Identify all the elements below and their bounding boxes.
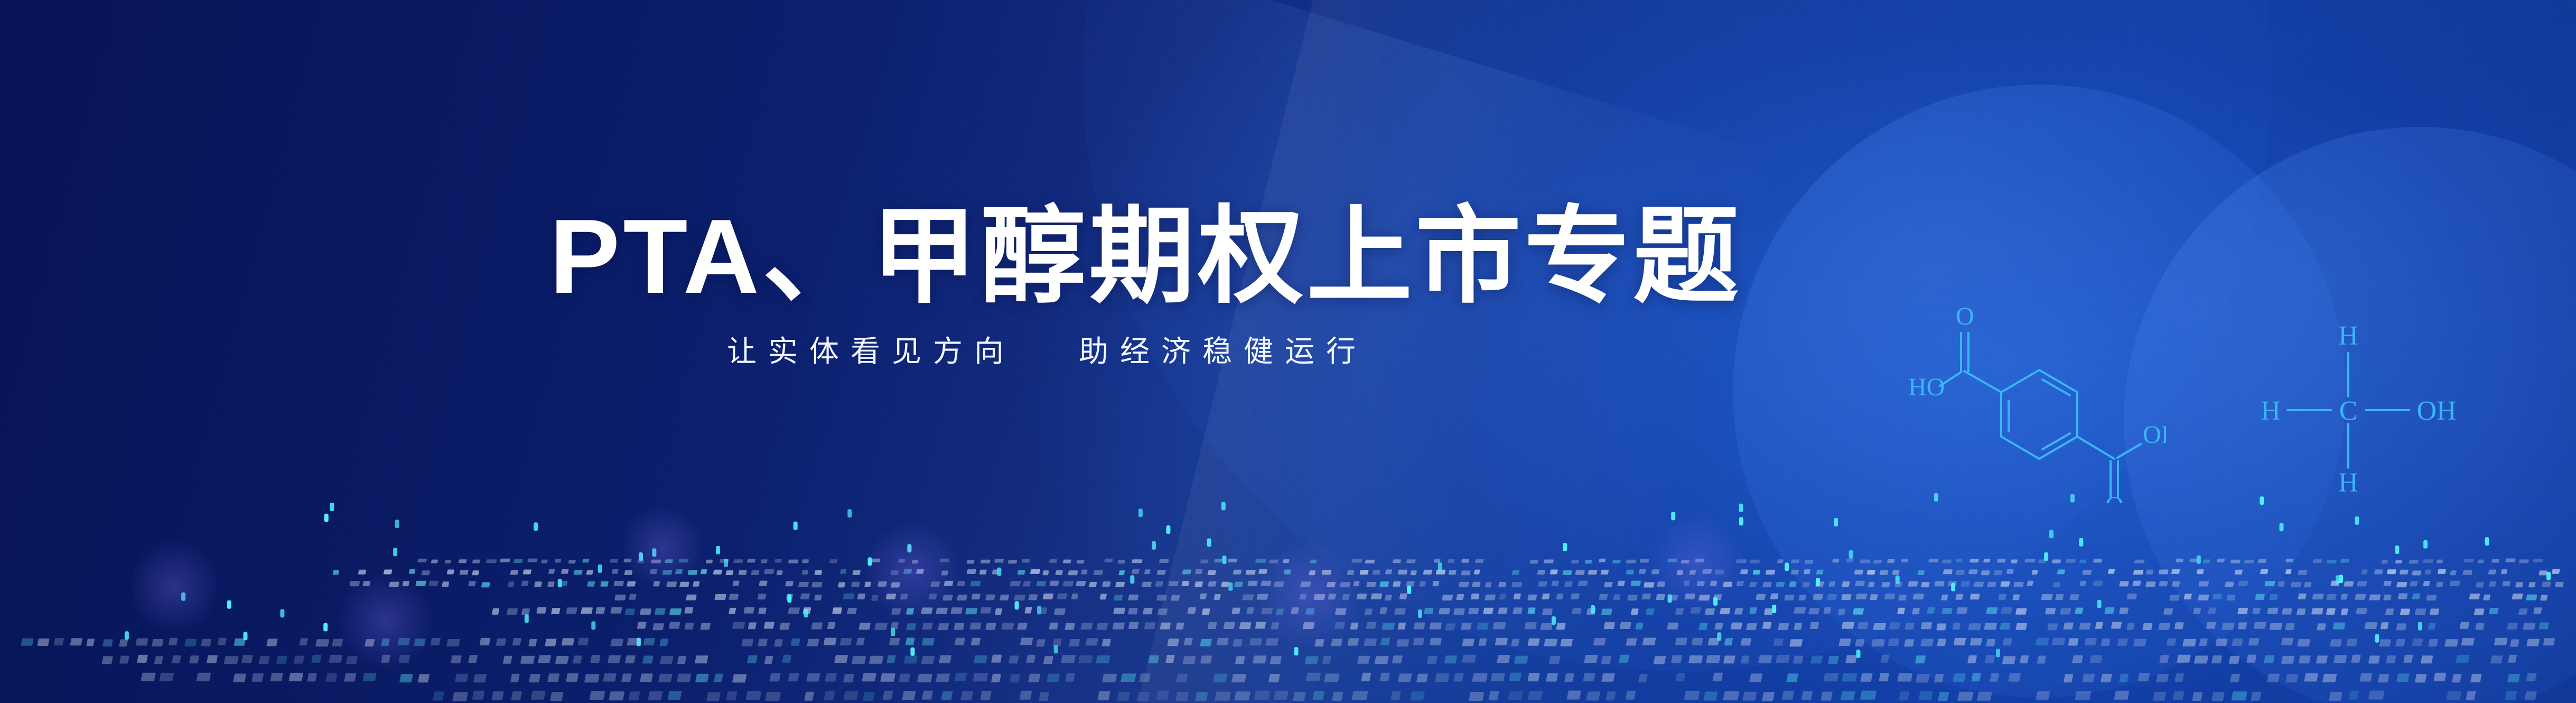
stem-cyan bbox=[891, 628, 895, 703]
stem-cyan bbox=[2197, 556, 2201, 703]
stem-cyan bbox=[1228, 582, 1233, 703]
stem-cyan bbox=[2485, 537, 2489, 703]
stem-cyan bbox=[1772, 605, 1776, 703]
dash-row bbox=[614, 594, 2548, 601]
pta-label-carbonyl-top: O bbox=[1956, 302, 1974, 330]
glow-blob bbox=[866, 518, 956, 624]
stem-cyan bbox=[558, 579, 562, 703]
stem-cyan bbox=[794, 522, 798, 703]
stem-cyan bbox=[652, 548, 656, 703]
dash-row bbox=[349, 581, 2564, 588]
dash-row bbox=[637, 622, 2549, 631]
stem-cyan bbox=[1222, 556, 1227, 703]
stem-cyan bbox=[2339, 575, 2343, 703]
methanol-label-hydrogen-left: H bbox=[2261, 396, 2281, 426]
tech-pattern-svg bbox=[0, 481, 2576, 703]
molecule-methanol: H H C OH H bbox=[2240, 307, 2467, 515]
stem-cyan bbox=[847, 509, 852, 703]
stem-cyan bbox=[1785, 562, 1789, 703]
stem-cyan bbox=[2336, 575, 2340, 703]
stem-cyan bbox=[393, 548, 397, 703]
background-circle-left bbox=[1733, 85, 2346, 698]
stem-cyan bbox=[1407, 586, 1411, 703]
glow-blob bbox=[338, 571, 433, 671]
dash-row bbox=[417, 559, 2543, 564]
stem-cyan bbox=[2423, 540, 2428, 703]
stem-cyan bbox=[639, 552, 643, 703]
methanol-structure-svg: H H C OH H bbox=[2240, 307, 2467, 513]
dash-row bbox=[492, 607, 2542, 615]
stem-cyan bbox=[525, 614, 529, 703]
stem-cyan bbox=[1037, 606, 1041, 703]
methanol-label-hydrogen-bottom: H bbox=[2338, 468, 2358, 498]
background-circle-right bbox=[2124, 127, 2576, 703]
dash-row bbox=[433, 691, 2537, 701]
stem-cyan bbox=[1934, 493, 1938, 703]
glow-blob bbox=[623, 502, 703, 592]
stem-cyan bbox=[598, 565, 602, 703]
stem-cyan bbox=[1739, 517, 1743, 703]
stem-cyan bbox=[2097, 600, 2102, 703]
promo-banner: PTA、甲醇期权上市专题 让实体看见方向 助经济稳健运行 bbox=[0, 0, 2576, 703]
stem-cyan bbox=[787, 594, 791, 703]
stem-cyan bbox=[1816, 578, 1820, 703]
stem-cyan bbox=[1834, 518, 1838, 703]
stem-cyan bbox=[2418, 622, 2422, 703]
pta-label-hydroxyl-right: OH bbox=[2143, 421, 2166, 449]
stem-cyan bbox=[1996, 649, 2000, 703]
dash-row bbox=[21, 638, 2555, 647]
stem-cyan bbox=[1739, 504, 1743, 703]
subtitle-right: 助经济稳健运行 bbox=[1079, 328, 1367, 371]
banner-title: PTA、甲醇期权上市专题 bbox=[549, 202, 1934, 312]
stem-cyan bbox=[2375, 634, 2379, 703]
dash-row bbox=[102, 655, 2517, 664]
stem-cyan bbox=[1207, 539, 1211, 703]
stem-cyan bbox=[2049, 530, 2054, 703]
stem-cyan bbox=[1668, 594, 1672, 703]
stem-cyan bbox=[804, 609, 808, 703]
glow-blob bbox=[1257, 539, 1363, 650]
stem-cyan bbox=[1054, 645, 1058, 703]
headline-block: PTA、甲醇期权上市专题 让实体看见方向 助经济稳健运行 bbox=[549, 202, 1934, 371]
stem-cyan bbox=[280, 609, 284, 703]
stem-cyan bbox=[1166, 525, 1170, 703]
stem-cyan bbox=[1671, 512, 1675, 703]
stem-cyan bbox=[2070, 494, 2075, 703]
stem-cyan bbox=[2395, 545, 2399, 703]
stem-cyan bbox=[1951, 583, 1955, 703]
stem-cyan bbox=[637, 638, 641, 703]
subtitle-row: 让实体看见方向 助经济稳健运行 bbox=[549, 328, 1934, 371]
methanol-label-carbon-center: C bbox=[2339, 396, 2358, 426]
stem-cyan bbox=[1438, 562, 1442, 703]
pta-label-hydroxyl-left: HO bbox=[1908, 373, 1945, 401]
stem-cyan bbox=[907, 544, 911, 703]
stem-cyan bbox=[1849, 550, 1853, 703]
stem-cyan bbox=[1563, 543, 1567, 703]
stem-cyan bbox=[2260, 496, 2264, 703]
stem-cyan bbox=[591, 621, 595, 703]
stem-cyan bbox=[1713, 597, 1718, 703]
stem-cyan bbox=[910, 647, 914, 703]
stem-cyan bbox=[997, 568, 1001, 703]
stem-cyan bbox=[2079, 538, 2083, 703]
stem-cyan bbox=[1015, 601, 1019, 703]
stem-cyan bbox=[534, 522, 538, 703]
stem-cyan bbox=[724, 559, 728, 703]
glow-blob bbox=[1648, 513, 1743, 613]
stem-cyan bbox=[323, 623, 328, 703]
glow-blob bbox=[132, 534, 217, 640]
stem-cyan bbox=[1717, 632, 1721, 703]
dash-row bbox=[332, 569, 2560, 576]
methanol-label-hydrogen-top: H bbox=[2338, 321, 2358, 351]
dash-row bbox=[141, 673, 2537, 683]
subtitle-left: 让实体看见方向 bbox=[727, 328, 1015, 371]
stem-cyan bbox=[181, 593, 185, 703]
stem-cyan bbox=[1130, 575, 1134, 703]
stem-cyan bbox=[1138, 508, 1143, 703]
stem-cyan bbox=[1221, 502, 1226, 703]
stem-cyan bbox=[1552, 616, 1556, 703]
stem-cyan bbox=[227, 600, 231, 703]
stem-cyan bbox=[324, 514, 329, 703]
stem-cyan bbox=[1856, 650, 1861, 703]
stem-cyan bbox=[2355, 516, 2359, 703]
stem-cyan bbox=[2280, 523, 2284, 703]
methanol-label-hydroxyl-right: OH bbox=[2416, 396, 2456, 426]
stem-cyan bbox=[395, 520, 399, 703]
tech-pattern-decoration bbox=[0, 481, 2576, 703]
stem-cyan bbox=[2044, 552, 2048, 703]
stem-cyan bbox=[716, 546, 720, 703]
stem-cyan bbox=[868, 557, 872, 703]
stem-cyan bbox=[1896, 576, 1900, 703]
pta-label-carbonyl-bottom: O bbox=[2105, 492, 2124, 503]
stem-cyan bbox=[1152, 541, 1156, 703]
stem-cyan bbox=[244, 632, 248, 703]
stem-cyan bbox=[1294, 647, 1299, 703]
stem-cyan bbox=[2546, 572, 2551, 703]
stem-cyan bbox=[1591, 605, 1595, 703]
stem-cyan bbox=[1418, 609, 1422, 703]
stem-cyan bbox=[330, 503, 334, 703]
stem-cyan bbox=[125, 631, 129, 703]
